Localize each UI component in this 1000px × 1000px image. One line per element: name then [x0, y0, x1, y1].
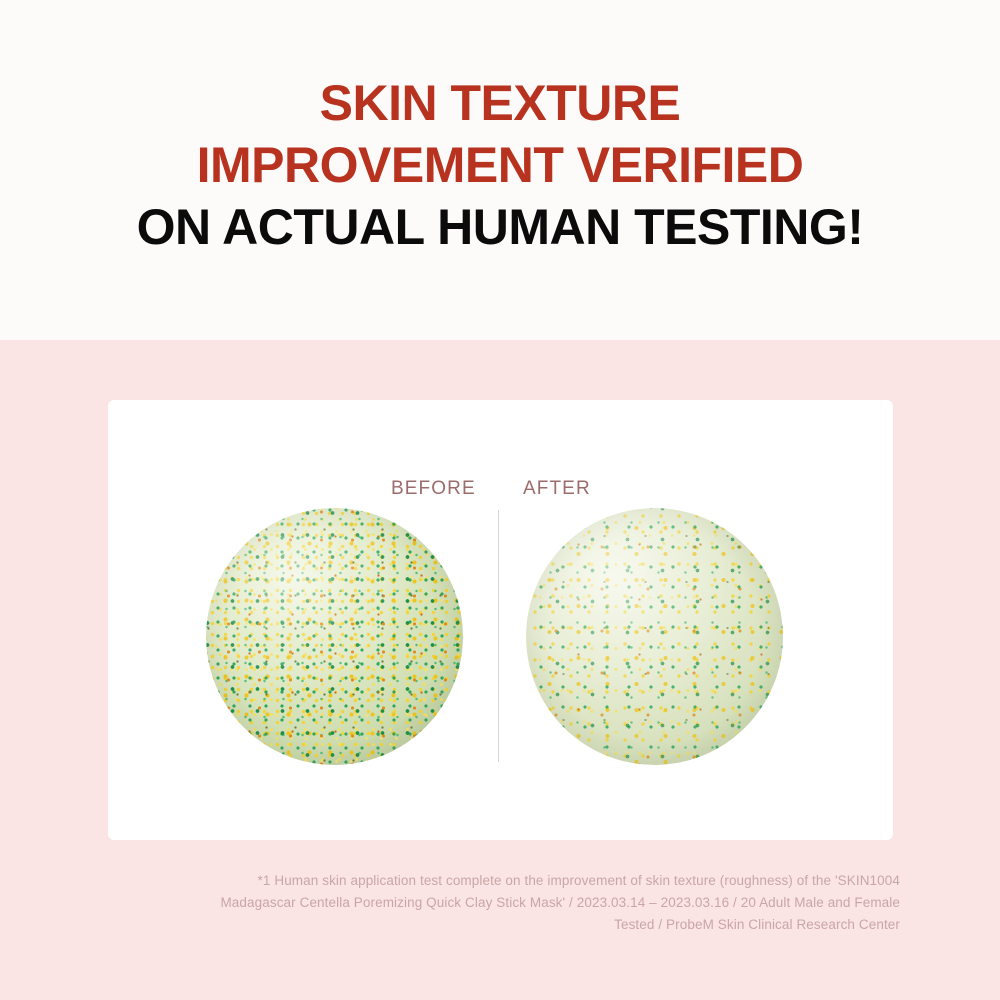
- before-label: BEFORE: [391, 478, 476, 500]
- after-texture-image: [526, 508, 783, 765]
- after-label: AFTER: [523, 478, 591, 500]
- after-sphere-shading: [526, 508, 783, 765]
- headline-band: SKIN TEXTURE IMPROVEMENT VERIFIED ON ACT…: [0, 0, 1000, 340]
- before-texture-image: [206, 508, 463, 765]
- comparison-label-row: BEFORE AFTER: [108, 478, 893, 502]
- headline-stack: SKIN TEXTURE IMPROVEMENT VERIFIED ON ACT…: [0, 78, 1000, 252]
- footnote-line-2: Madagascar Centella Poremizing Quick Cla…: [100, 892, 900, 914]
- marketing-image-root: SKIN TEXTURE IMPROVEMENT VERIFIED ON ACT…: [0, 0, 1000, 1000]
- headline-line-1: SKIN TEXTURE: [0, 78, 1000, 128]
- footnote-line-3: Tested / ProbeM Skin Clinical Research C…: [100, 914, 900, 936]
- headline-line-3: ON ACTUAL HUMAN TESTING!: [0, 202, 1000, 252]
- headline-line-2: IMPROVEMENT VERIFIED: [0, 140, 1000, 190]
- before-after-card: BEFORE AFTER: [108, 400, 893, 840]
- footnote-line-1: *1 Human skin application test complete …: [100, 870, 900, 892]
- study-footnote: *1 Human skin application test complete …: [100, 870, 900, 936]
- before-sphere-shading: [206, 508, 463, 765]
- comparison-divider: [498, 510, 499, 762]
